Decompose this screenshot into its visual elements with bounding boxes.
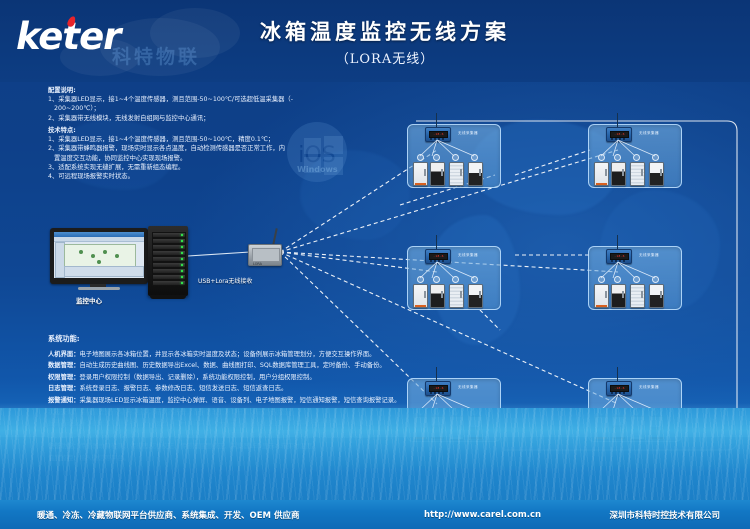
temperature-sensor-icon	[598, 276, 605, 283]
fridge-icon	[413, 162, 428, 186]
monitoring-center-label: 监控中心	[76, 295, 102, 305]
footer-bar: 暖通、冷冻、冷藏物联网平台供应商、系统集成、开发、OEM 供应商 http://…	[0, 500, 750, 529]
server-led-icon	[181, 270, 183, 272]
fridge-handle	[460, 169, 461, 176]
fridge-icon	[449, 162, 464, 186]
server-led-icon	[181, 234, 183, 236]
fridge-handle	[441, 169, 442, 176]
fridge-base-strip	[596, 305, 607, 307]
fridge-icon	[413, 284, 428, 308]
fridge-handle	[622, 291, 623, 298]
monitoring-center-workstation	[50, 228, 148, 290]
footer-company: 深圳市科特时控技术有限公司	[609, 509, 720, 521]
app-map-canvas	[64, 244, 136, 268]
fridge-icon	[611, 162, 626, 186]
temperature-sensor-icon	[614, 154, 621, 161]
site-box-4: -18.6 无线采集器	[588, 246, 682, 310]
fridge-handle	[441, 291, 442, 298]
fridge-handle	[460, 291, 461, 298]
server-led-icon	[181, 282, 183, 284]
monitor-base	[78, 287, 120, 290]
fridge-base-strip	[596, 183, 607, 185]
fridge-handle	[622, 169, 623, 176]
server-led-icon	[181, 240, 183, 242]
map-node	[91, 254, 95, 258]
temperature-sensor-icon	[471, 276, 478, 283]
fridge-icon	[649, 162, 664, 186]
fridge-icon	[611, 284, 626, 308]
temperature-sensor-icon	[598, 154, 605, 161]
gateway-panel	[252, 248, 280, 262]
poster-canvas: 科特物联 iOS Windows keter 冰箱温度监控无线方案 （LORA无…	[0, 0, 750, 529]
fridge-icon	[630, 284, 645, 308]
fridge-icon	[630, 162, 645, 186]
temperature-sensor-icon	[633, 154, 640, 161]
map-node	[115, 254, 119, 258]
fridge-handle	[641, 291, 642, 298]
site-box-3: -18.6 无线采集器	[407, 246, 501, 310]
fridge-base-strip	[415, 183, 426, 185]
fridge-icon	[594, 284, 609, 308]
footer-url[interactable]: http://www.carel.com.cn	[424, 510, 541, 520]
monitor-display	[54, 232, 144, 278]
site-box-2: -18.6 无线采集器	[588, 124, 682, 188]
temperature-sensor-icon	[417, 276, 424, 283]
server-base	[150, 295, 186, 299]
server-bay	[152, 280, 186, 286]
gateway-body-text: LORA	[253, 262, 262, 266]
fridge-icon	[468, 162, 483, 186]
site-box-1: -18.6 无线采集器	[407, 124, 501, 188]
temperature-sensor-icon	[614, 276, 621, 283]
temperature-sensor-icon	[652, 154, 659, 161]
server-led-icon	[181, 252, 183, 254]
server-led-icon	[181, 264, 183, 266]
fridge-icon	[594, 162, 609, 186]
fridge-base-strip	[415, 305, 426, 307]
fridge-icon	[430, 162, 445, 186]
lora-usb-gateway: LORA	[248, 238, 280, 264]
map-node	[79, 250, 83, 254]
fridge-icon	[449, 284, 464, 308]
server-tower	[148, 226, 188, 296]
temperature-sensor-icon	[452, 276, 459, 283]
temperature-sensor-icon	[417, 154, 424, 161]
app-toolbar	[54, 237, 144, 242]
temperature-sensor-icon	[652, 276, 659, 283]
app-datagrid	[64, 266, 144, 277]
fridge-handle	[605, 169, 606, 176]
fridge-icon	[430, 284, 445, 308]
fridge-icon	[468, 284, 483, 308]
server-led-icon	[181, 258, 183, 260]
temperature-sensor-icon	[433, 154, 440, 161]
fridge-handle	[479, 169, 480, 176]
gateway-body: LORA	[248, 244, 282, 266]
fridge-handle	[479, 291, 480, 298]
gateway-label: USB+Lora无线接收	[198, 276, 252, 285]
footer-tagline: 暖通、冷冻、冷藏物联网平台供应商、系统集成、开发、OEM 供应商	[37, 509, 299, 521]
fridge-handle	[660, 169, 661, 176]
sea-graphic	[0, 408, 750, 500]
fridge-handle	[605, 291, 606, 298]
server-led-icon	[181, 276, 183, 278]
fridge-icon	[649, 284, 664, 308]
temperature-sensor-icon	[433, 276, 440, 283]
fridge-handle	[424, 169, 425, 176]
server-led-icon	[181, 246, 183, 248]
map-node	[103, 250, 107, 254]
map-node	[97, 260, 101, 264]
temperature-sensor-icon	[471, 154, 478, 161]
fridge-handle	[641, 169, 642, 176]
fridge-handle	[424, 291, 425, 298]
fridge-handle	[660, 291, 661, 298]
temperature-sensor-icon	[452, 154, 459, 161]
monitor-screen	[50, 228, 148, 284]
temperature-sensor-icon	[633, 276, 640, 283]
